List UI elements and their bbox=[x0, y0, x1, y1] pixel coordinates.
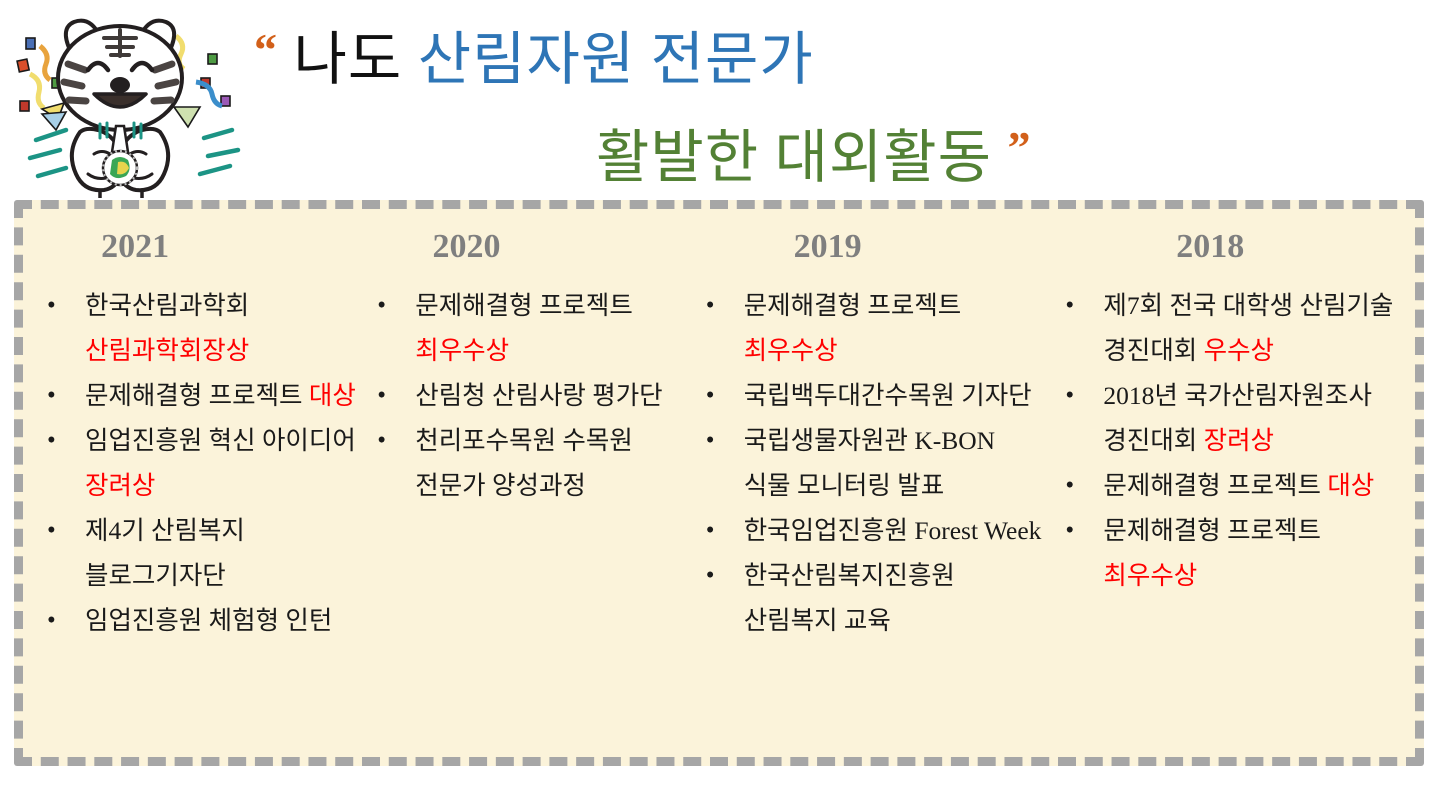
bullet-icon: • bbox=[706, 418, 715, 463]
item-text: 산림청 산림사랑 평가단 bbox=[415, 381, 662, 410]
bullet-icon: • bbox=[377, 418, 386, 463]
item-text: 제4기 산림복지 블로그기자단 bbox=[85, 516, 245, 590]
achievement-list-2019: •문제해결형 프로젝트 최우수상 •국립백두대간수목원 기자단 •국립생물자원관… bbox=[698, 283, 1044, 643]
celebrating-tiger-mascot-icon bbox=[8, 8, 260, 198]
bullet-icon: • bbox=[377, 283, 386, 328]
list-item: •산림청 산림사랑 평가단 bbox=[369, 373, 683, 418]
open-quote-icon: “ bbox=[254, 24, 278, 75]
list-item: •한국산림과학회 산림과학회장상 bbox=[39, 283, 361, 373]
bullet-icon: • bbox=[1065, 508, 1074, 553]
list-item: •문제해결형 프로젝트 최우수상 bbox=[369, 283, 683, 373]
list-item: •한국임업진흥원 Forest Week bbox=[698, 508, 1044, 553]
list-item: •한국산림복지진흥원 산림복지 교육 bbox=[698, 553, 1044, 643]
list-item: •문제해결형 프로젝트 대상 bbox=[1057, 463, 1409, 508]
achievement-list-2018: •제7회 전국 대학생 산림기술 경진대회 우수상 •2018년 국가산림자원조… bbox=[1057, 283, 1409, 598]
year-heading-2021: 2021 bbox=[39, 225, 361, 269]
year-column-2020: 2020 •문제해결형 프로젝트 최우수상 •산림청 산림사랑 평가단 •천리포… bbox=[361, 225, 683, 747]
list-item: •2018년 국가산림자원조사 경진대회 장려상 bbox=[1057, 373, 1409, 463]
list-item: •임업진흥원 체험형 인턴 bbox=[39, 598, 361, 643]
bullet-icon: • bbox=[47, 598, 56, 643]
item-text: 한국임업진흥원 Forest Week bbox=[744, 516, 1042, 545]
list-item: •문제해결형 프로젝트 최우수상 bbox=[1057, 508, 1409, 598]
list-item: •문제해결형 프로젝트 최우수상 bbox=[698, 283, 1044, 373]
bullet-icon: • bbox=[706, 508, 715, 553]
award-highlight: 최우수상 bbox=[415, 336, 509, 365]
headline-line-1-black: 나도 bbox=[294, 27, 403, 92]
header-banner: “ 나도 산림자원 전문가 활발한 대외활동 ” bbox=[0, 0, 1438, 196]
list-item: •국립생물자원관 K-BON 식물 모니터링 발표 bbox=[698, 418, 1044, 508]
headline-line-1: “ 나도 산림자원 전문가 bbox=[250, 6, 1430, 104]
list-item: •임업진흥원 혁신 아이디어 장려상 bbox=[39, 418, 361, 508]
item-text: 한국산림복지진흥원 산림복지 교육 bbox=[744, 561, 955, 635]
list-item: •제4기 산림복지 블로그기자단 bbox=[39, 508, 361, 598]
bullet-icon: • bbox=[706, 373, 715, 418]
award-highlight: 대상 bbox=[309, 381, 356, 410]
item-text: 천리포수목원 수목원 전문가 양성과정 bbox=[415, 426, 633, 500]
bullet-icon: • bbox=[1065, 373, 1074, 418]
item-text: 임업진흥원 체험형 인턴 bbox=[85, 606, 332, 635]
bullet-icon: • bbox=[1065, 463, 1074, 508]
year-heading-2020: 2020 bbox=[369, 225, 683, 269]
item-text: 한국산림과학회 bbox=[85, 291, 249, 320]
item-text: 문제해결형 프로젝트 bbox=[415, 291, 633, 320]
bullet-icon: • bbox=[1065, 283, 1074, 328]
award-highlight: 대상 bbox=[1327, 471, 1374, 500]
achievements-panel: 2021 •한국산림과학회 산림과학회장상 •문제해결형 프로젝트 대상 •임업… bbox=[14, 200, 1424, 766]
item-text: 문제해결형 프로젝트 bbox=[744, 291, 962, 320]
item-text: 문제해결형 프로젝트 bbox=[85, 381, 309, 410]
item-text: 국립생물자원관 K-BON 식물 모니터링 발표 bbox=[744, 426, 995, 500]
year-columns-container: 2021 •한국산림과학회 산림과학회장상 •문제해결형 프로젝트 대상 •임업… bbox=[23, 209, 1415, 757]
award-highlight: 우수상 bbox=[1204, 336, 1274, 365]
year-heading-2019: 2019 bbox=[698, 225, 1044, 269]
list-item: •문제해결형 프로젝트 대상 bbox=[39, 373, 361, 418]
award-highlight: 산림과학회장상 bbox=[85, 336, 249, 365]
award-highlight: 장려상 bbox=[1204, 426, 1274, 455]
list-item: •국립백두대간수목원 기자단 bbox=[698, 373, 1044, 418]
headline-block: “ 나도 산림자원 전문가 활발한 대외활동 ” bbox=[250, 6, 1430, 196]
close-quote-icon: ” bbox=[1008, 122, 1032, 173]
bullet-icon: • bbox=[377, 373, 386, 418]
bullet-icon: • bbox=[47, 508, 56, 553]
award-highlight: 최우수상 bbox=[744, 336, 838, 365]
headline-line-1-blue: 산림자원 전문가 bbox=[418, 27, 814, 92]
bullet-icon: • bbox=[47, 283, 56, 328]
award-highlight: 최우수상 bbox=[1103, 561, 1197, 590]
headline-line-2: 활발한 대외활동 ” bbox=[250, 104, 1430, 202]
headline-line-2-green: 활발한 대외활동 bbox=[596, 125, 992, 190]
achievement-list-2021: •한국산림과학회 산림과학회장상 •문제해결형 프로젝트 대상 •임업진흥원 혁… bbox=[39, 283, 361, 643]
achievement-list-2020: •문제해결형 프로젝트 최우수상 •산림청 산림사랑 평가단 •천리포수목원 수… bbox=[369, 283, 683, 508]
award-highlight: 장려상 bbox=[85, 471, 155, 500]
item-text: 문제해결형 프로젝트 bbox=[1103, 516, 1321, 545]
item-text: 국립백두대간수목원 기자단 bbox=[744, 381, 1032, 410]
year-column-2018: 2018 •제7회 전국 대학생 산림기술 경진대회 우수상 •2018년 국가… bbox=[1043, 225, 1409, 747]
list-item: •천리포수목원 수목원 전문가 양성과정 bbox=[369, 418, 683, 508]
year-column-2021: 2021 •한국산림과학회 산림과학회장상 •문제해결형 프로젝트 대상 •임업… bbox=[29, 225, 361, 747]
year-column-2019: 2019 •문제해결형 프로젝트 최우수상 •국립백두대간수목원 기자단 •국립… bbox=[684, 225, 1044, 747]
bullet-icon: • bbox=[706, 283, 715, 328]
year-heading-2018: 2018 bbox=[1057, 225, 1409, 269]
bullet-icon: • bbox=[706, 553, 715, 598]
list-item: •제7회 전국 대학생 산림기술 경진대회 우수상 bbox=[1057, 283, 1409, 373]
bullet-icon: • bbox=[47, 418, 56, 463]
item-text: 문제해결형 프로젝트 bbox=[1103, 471, 1327, 500]
item-text: 임업진흥원 혁신 아이디어 bbox=[85, 426, 356, 455]
bullet-icon: • bbox=[47, 373, 56, 418]
